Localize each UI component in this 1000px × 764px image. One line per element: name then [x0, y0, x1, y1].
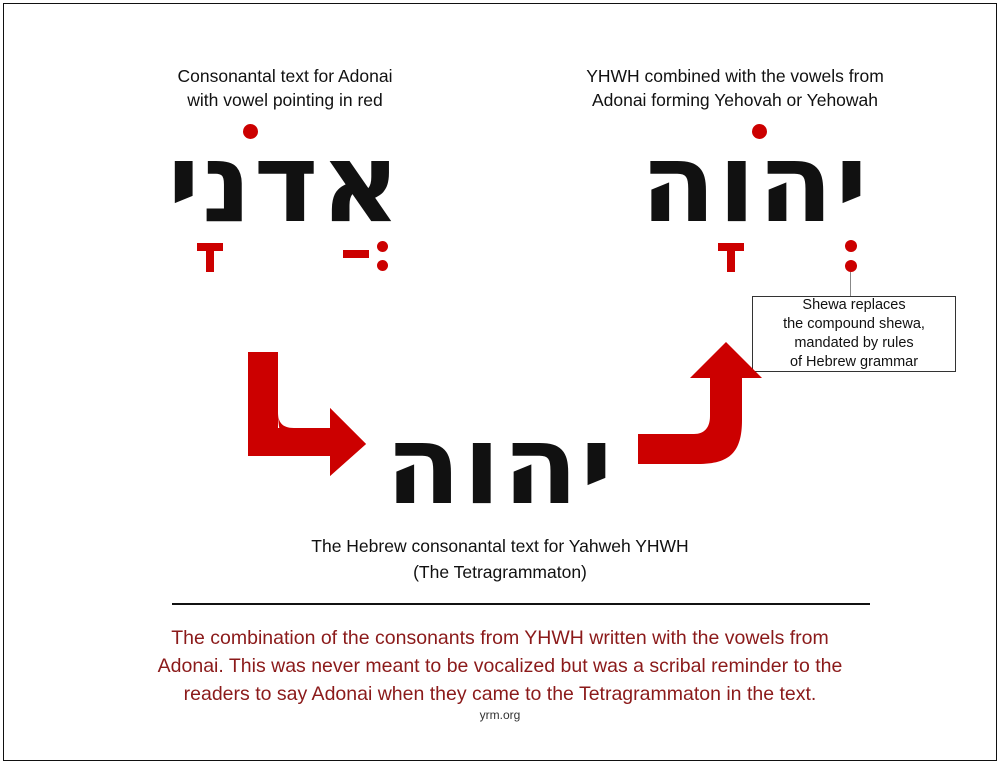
caption-adonai: Consonantal text for Adonai with vowel p…: [85, 64, 485, 112]
hebrew-word-adonai: אדני: [140, 118, 430, 248]
vowel-qamats-yehovah: [718, 243, 744, 273]
down-right-arrow: [238, 352, 368, 477]
vowel-holam-yehovah: [752, 124, 767, 139]
vowel-holam-adonai: [243, 124, 258, 139]
hebrew-word-tetragrammaton: יהוה: [360, 400, 640, 530]
vowel-shewa-yehovah: [845, 240, 857, 272]
callout-leader-line: [850, 272, 851, 297]
caption-yehovah: YHWH combined with the vowels from Adona…: [515, 64, 955, 112]
vowel-hataf-patach-adonai: [343, 241, 389, 272]
right-up-arrow: [638, 330, 768, 465]
caption-tetragrammaton: The Hebrew consonantal text for Yahweh Y…: [250, 533, 750, 585]
source-attribution: yrm.org: [0, 708, 1000, 722]
summary-text: The combination of the consonants from Y…: [60, 624, 940, 708]
shewa-callout-text: Shewa replaces the compound shewa, manda…: [783, 296, 925, 372]
shewa-callout-box: Shewa replaces the compound shewa, manda…: [752, 296, 956, 372]
horizontal-divider: [172, 603, 870, 605]
infographic-page: Consonantal text for Adonai with vowel p…: [0, 0, 1000, 764]
vowel-qamats-adonai: [197, 243, 223, 273]
